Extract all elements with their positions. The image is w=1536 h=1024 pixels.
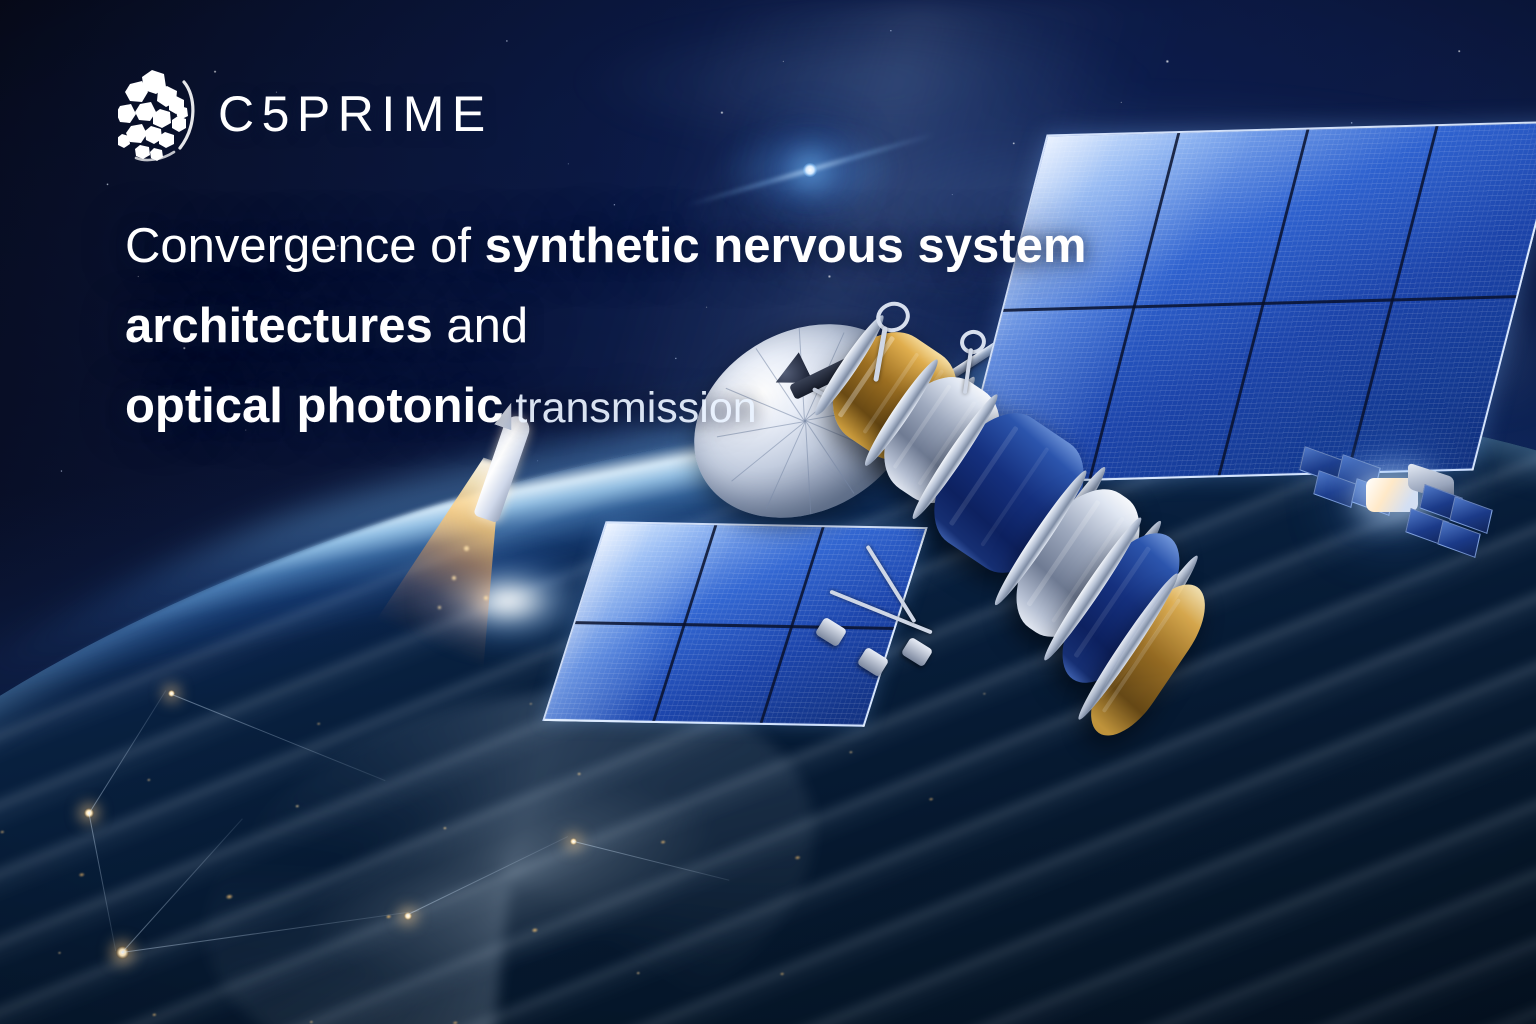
thruster <box>901 637 934 668</box>
headline-line2-regular: and <box>433 299 528 353</box>
headline: Convergence of synthetic nervous system … <box>125 206 1305 448</box>
rocket-spark <box>438 606 441 609</box>
headline-line-1: Convergence of synthetic nervous system <box>125 206 1305 286</box>
rocket-spark <box>484 596 488 600</box>
headline-line2-bold: architectures <box>125 299 433 353</box>
headline-line3-soft: transmission <box>503 384 756 432</box>
distant-satellite <box>1300 430 1496 570</box>
headline-line3-bold: optical photonic <box>125 379 503 433</box>
brand-logo[interactable]: C5PRIME <box>118 66 493 162</box>
headline-line1-bold: synthetic nervous system <box>485 219 1087 273</box>
headline-line-3: optical photonic transmission <box>125 366 1305 448</box>
hex-sphere-icon <box>118 66 198 162</box>
headline-line-2: architectures and <box>125 286 1305 366</box>
space-banner: C5PRIME Convergence of synthetic nervous… <box>0 0 1536 1024</box>
headline-line1-regular: Convergence of <box>125 219 485 273</box>
rocket-spark <box>464 546 469 551</box>
brand-wordmark: C5PRIME <box>218 89 493 139</box>
rocket-spark <box>452 576 456 580</box>
